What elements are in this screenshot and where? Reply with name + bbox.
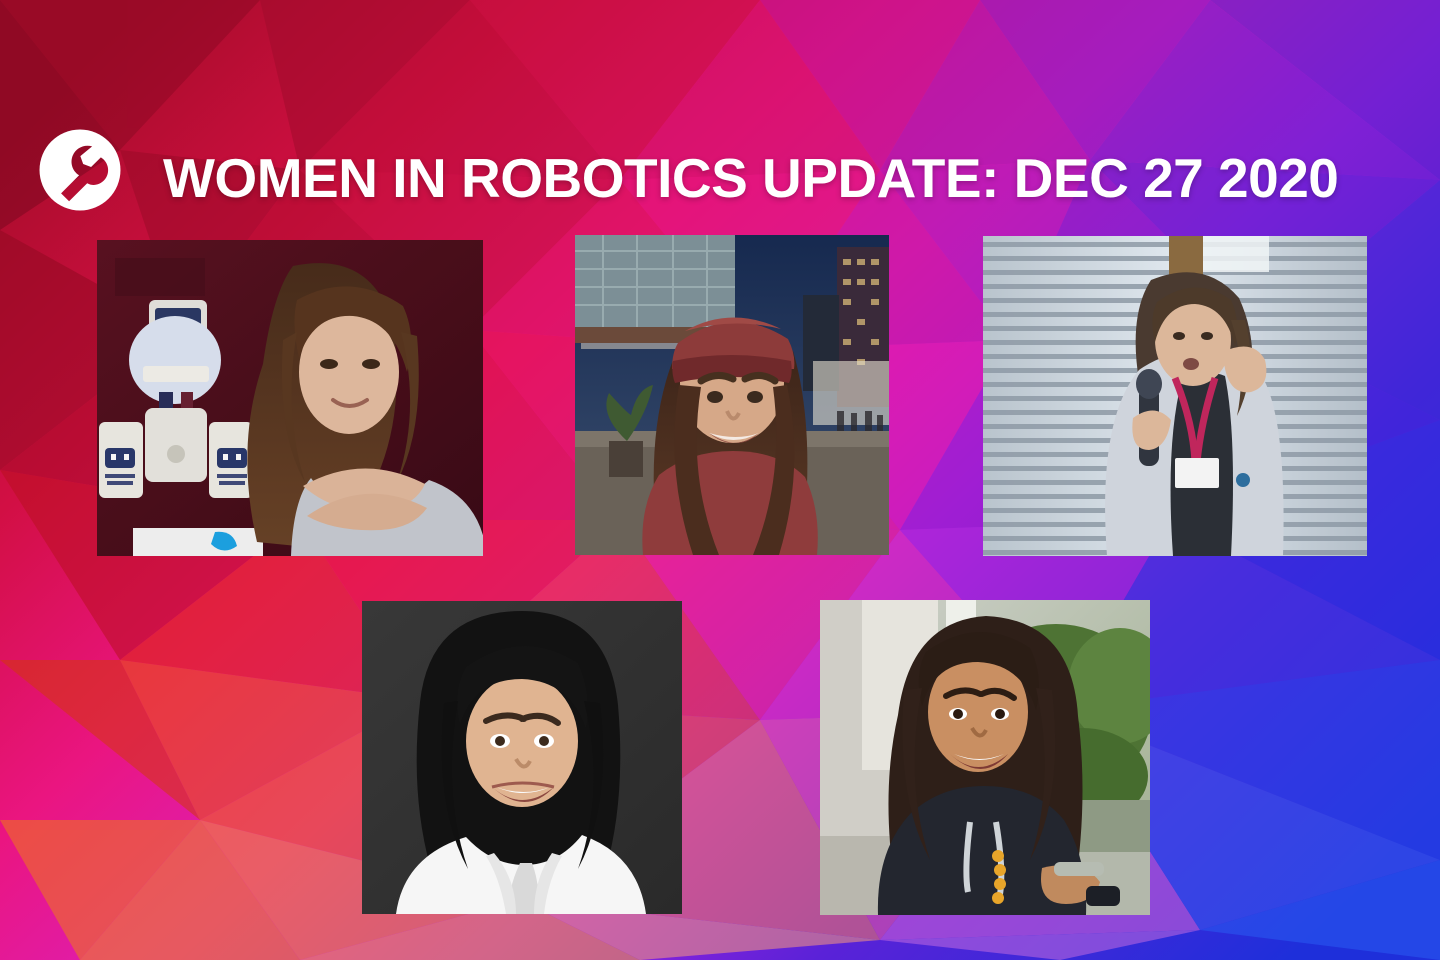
photo-3-illustration <box>983 236 1367 556</box>
robohub-wrench-logo-icon <box>36 126 124 214</box>
photo-2-illustration <box>575 235 889 555</box>
collage-photo-2: Smiling woman wearing a backwards maroon… <box>575 235 889 555</box>
collage-photo-3: Woman speaking into a handheld microphon… <box>983 236 1367 556</box>
collage-photo-5: Smiling woman in a navy hoodie standing … <box>820 600 1150 915</box>
page-title: WOMEN IN ROBOTICS UPDATE: DEC 27 2020 <box>163 148 1338 208</box>
photo-5-illustration <box>820 600 1150 915</box>
header: WOMEN IN ROBOTICS UPDATE: DEC 27 2020 <box>0 0 1440 240</box>
photo-4-illustration <box>362 601 682 914</box>
poster-canvas: WOMEN IN ROBOTICS UPDATE: DEC 27 2020 <box>0 0 1440 960</box>
collage-photo-1: Woman crossing her arms next to a white … <box>97 240 483 556</box>
photo-1-illustration <box>97 240 483 556</box>
collage-photo-4: Studio headshot of a smiling woman with … <box>362 601 682 914</box>
